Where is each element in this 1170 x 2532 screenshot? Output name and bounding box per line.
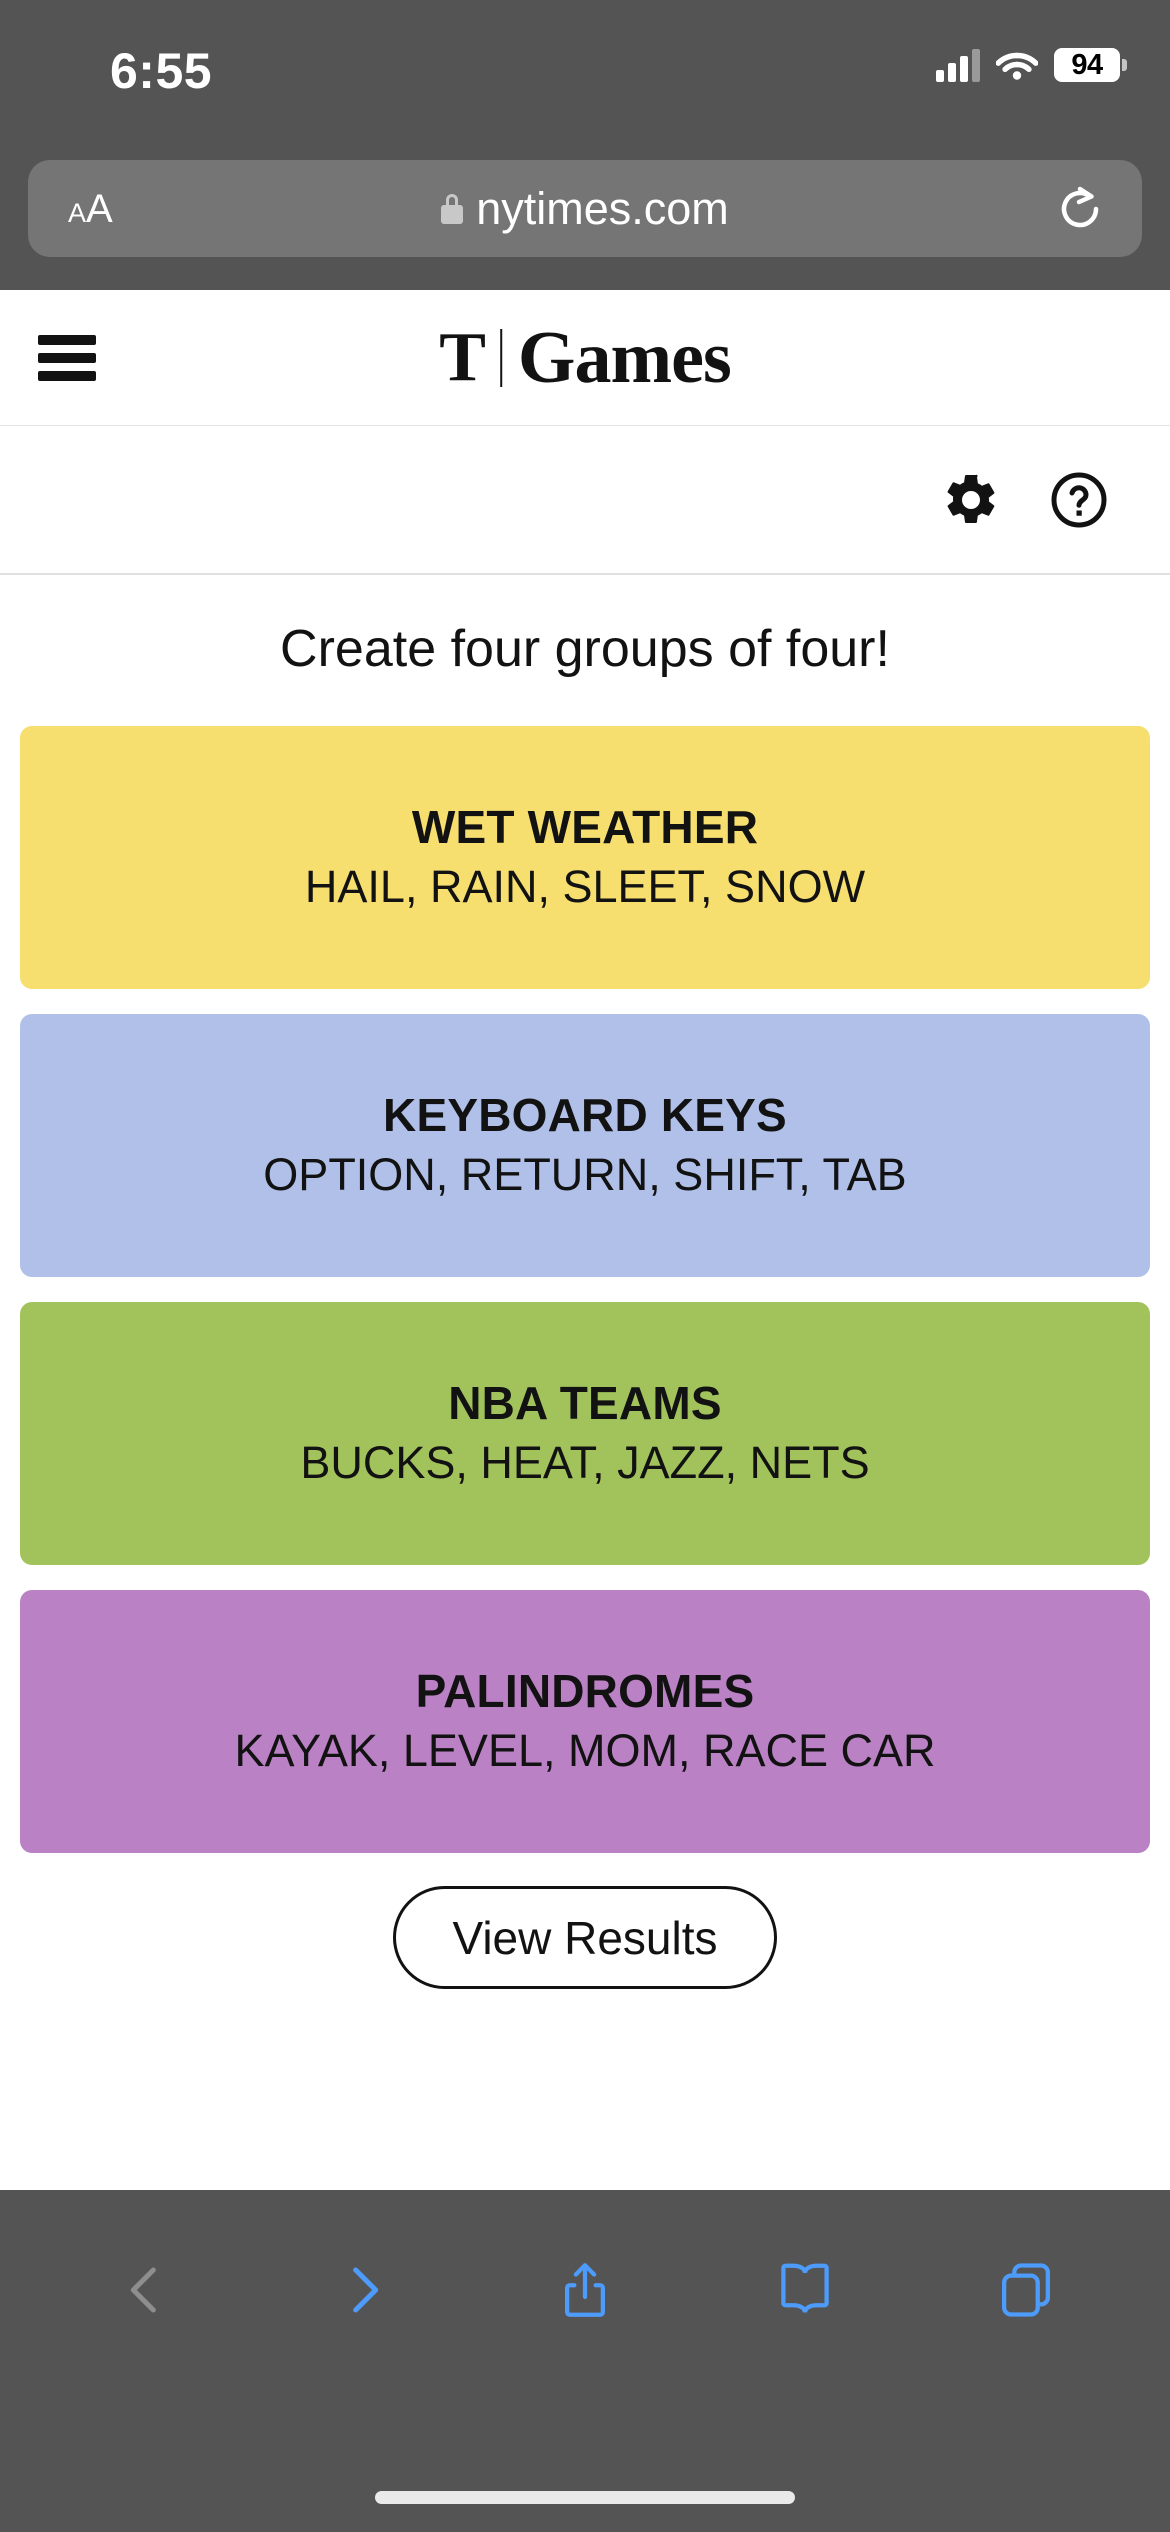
question-mark-circle-icon[interactable] [1048,469,1110,531]
address-bar-content: nytimes.com [28,183,1142,235]
chevron-right-icon[interactable] [310,2235,420,2345]
toolbar-icons [0,2220,1170,2360]
solved-categories-list: WET WEATHER HAIL, RAIN, SLEET, SNOW KEYB… [0,726,1170,1853]
category-members: BUCKS, HEAT, JAZZ, NETS [300,1436,869,1490]
battery-indicator: 94 [1054,48,1120,82]
category-title: KEYBOARD KEYS [383,1089,787,1142]
logo-divider [500,329,502,387]
category-members: KAYAK, LEVEL, MOM, RACE CAR [234,1724,935,1778]
home-indicator [375,2491,795,2504]
address-bar[interactable]: AA nytimes.com [28,160,1142,257]
category-members: HAIL, RAIN, SLEET, SNOW [305,860,865,914]
safari-bottom-toolbar [0,2190,1170,2532]
category-card-nba-teams: NBA TEAMS BUCKS, HEAT, JAZZ, NETS [20,1302,1150,1565]
reload-icon[interactable] [1056,185,1104,233]
nyt-games-logo[interactable]: T Games [439,321,731,395]
status-bar: 6:55 94 [0,0,1170,150]
phone-screen: 6:55 94 [0,0,1170,2532]
nyt-games-header: T Games [0,290,1170,426]
category-title: PALINDROMES [416,1665,755,1718]
book-icon[interactable] [750,2235,860,2345]
status-bar-time: 6:55 [110,42,212,100]
wifi-icon [996,49,1038,81]
connections-game-area: Create four groups of four! WET WEATHER … [0,577,1170,2190]
game-toolbar [0,427,1170,575]
share-icon[interactable] [530,2235,640,2345]
nyt-t-logo-icon: T [439,323,500,393]
safari-top-chrome: 6:55 94 [0,0,1170,290]
category-card-palindromes: PALINDROMES KAYAK, LEVEL, MOM, RACE CAR [20,1590,1150,1853]
game-prompt: Create four groups of four! [0,619,1170,679]
lock-icon [441,194,463,224]
tabs-icon[interactable] [971,2235,1081,2345]
category-card-keyboard-keys: KEYBOARD KEYS OPTION, RETURN, SHIFT, TAB [20,1014,1150,1277]
hamburger-menu-icon[interactable] [38,335,96,381]
status-bar-indicators: 94 [936,48,1120,82]
category-title: NBA TEAMS [448,1377,722,1430]
brand-name: Games [518,321,731,395]
cellular-signal-icon [936,48,980,82]
address-bar-url: nytimes.com [476,183,729,235]
gear-icon[interactable] [940,469,1002,531]
category-members: OPTION, RETURN, SHIFT, TAB [263,1148,906,1202]
results-button-container: View Results [0,1886,1170,1989]
chevron-left-icon[interactable] [89,2235,199,2345]
view-results-button[interactable]: View Results [393,1886,776,1989]
battery-level-text: 94 [1071,49,1102,82]
category-card-wet-weather: WET WEATHER HAIL, RAIN, SLEET, SNOW [20,726,1150,989]
category-title: WET WEATHER [412,801,758,854]
